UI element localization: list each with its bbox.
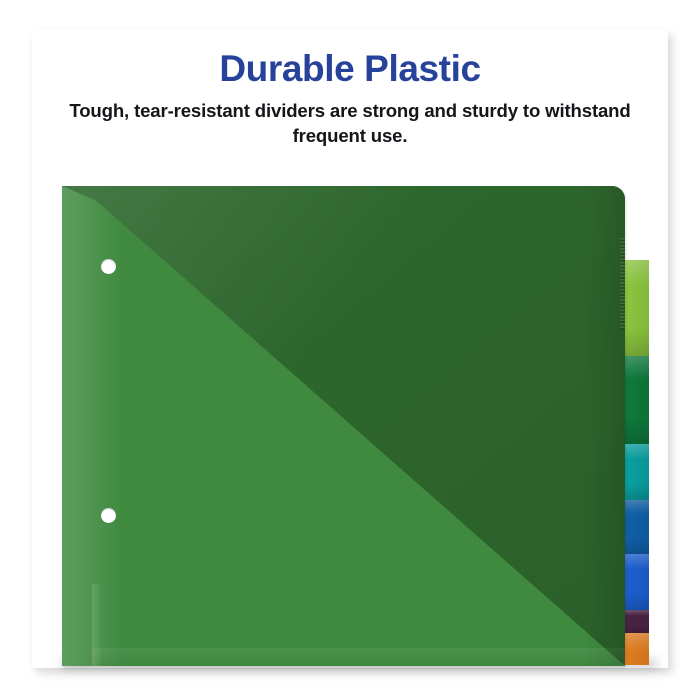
sheet-bottom-edge — [92, 648, 625, 666]
page-subtitle: Tough, tear-resistant dividers are stron… — [52, 99, 648, 148]
fold-crease-highlight — [62, 186, 625, 666]
sheet-right-shading — [585, 186, 625, 666]
punch-hole-bottom — [101, 508, 116, 523]
product-photo — [32, 180, 668, 672]
screenshot-canvas: Durable Plastic Tough, tear-resistant di… — [0, 0, 700, 700]
front-divider-sheet — [62, 186, 625, 666]
page-title: Durable Plastic — [32, 48, 668, 89]
reinforcement-ridge-strip — [620, 238, 625, 330]
punch-hole-top — [101, 259, 116, 274]
